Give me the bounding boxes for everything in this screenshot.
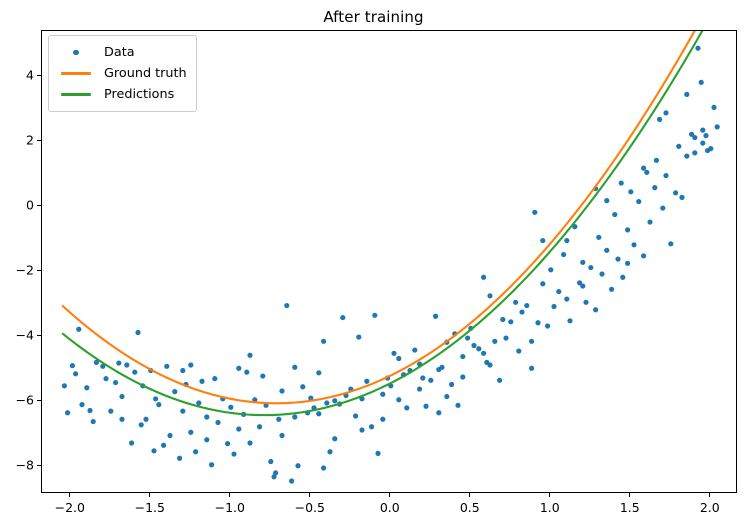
data-point	[257, 424, 262, 429]
data-point	[161, 443, 166, 448]
data-point	[231, 451, 236, 456]
data-point	[532, 210, 537, 215]
data-point	[684, 153, 689, 158]
data-point	[684, 92, 689, 97]
data-point	[332, 436, 337, 441]
data-point	[87, 408, 92, 413]
data-point	[644, 170, 649, 175]
data-point	[79, 402, 84, 407]
x-tick-mark	[309, 493, 310, 497]
data-point	[327, 449, 332, 454]
y-tick-mark	[37, 400, 41, 401]
data-point	[193, 449, 198, 454]
x-tick-label: −1.0	[215, 500, 245, 515]
data-point	[516, 348, 521, 353]
data-point	[604, 198, 609, 203]
data-point	[260, 373, 265, 378]
data-point	[673, 190, 678, 195]
data-point	[636, 199, 641, 204]
data-point	[556, 289, 561, 294]
data-point	[151, 448, 156, 453]
data-point	[428, 378, 433, 383]
x-tick-mark	[549, 493, 550, 497]
data-point	[321, 465, 326, 470]
data-point	[567, 318, 572, 323]
data-point	[508, 319, 513, 324]
data-point	[247, 353, 252, 358]
data-point	[695, 46, 700, 51]
data-point	[359, 427, 364, 432]
data-point	[699, 80, 704, 85]
data-point	[289, 478, 294, 483]
page-title: After training	[0, 8, 747, 26]
x-tick-mark	[149, 493, 150, 497]
data-point	[124, 362, 129, 367]
x-tick-label: 0.5	[460, 500, 480, 515]
data-point	[369, 424, 374, 429]
y-tick-mark	[37, 140, 41, 141]
data-point	[564, 238, 569, 243]
data-point	[108, 409, 113, 414]
data-point	[396, 356, 401, 361]
matplotlib-figure: After training −2.0−1.5−1.0−0.50.00.51.0…	[0, 0, 747, 528]
data-point	[580, 283, 585, 288]
data-point	[455, 403, 460, 408]
data-point	[497, 378, 502, 383]
data-point	[209, 462, 214, 467]
data-point	[620, 275, 625, 280]
data-point	[433, 314, 438, 319]
data-point	[84, 385, 89, 390]
data-point	[654, 158, 659, 163]
data-point	[715, 124, 720, 129]
data-point	[583, 300, 588, 305]
data-point	[188, 362, 193, 367]
data-point	[449, 382, 454, 387]
data-point	[225, 441, 230, 446]
data-point	[500, 317, 505, 322]
data-point	[380, 392, 385, 397]
y-tick-label: −2	[16, 263, 34, 278]
data-point	[113, 380, 118, 385]
data-point	[465, 335, 470, 340]
data-point	[103, 376, 108, 381]
data-point	[529, 366, 534, 371]
data-point	[321, 339, 326, 344]
data-point	[652, 185, 657, 190]
data-point	[70, 363, 75, 368]
x-tick-label: −1.5	[135, 500, 165, 515]
data-point	[628, 189, 633, 194]
data-point	[524, 303, 529, 308]
data-point	[545, 323, 550, 328]
data-point	[593, 307, 598, 312]
data-point	[364, 379, 369, 384]
data-point	[316, 370, 321, 375]
data-point	[199, 379, 204, 384]
data-point	[380, 417, 385, 422]
data-point	[180, 409, 185, 414]
data-point	[700, 128, 705, 133]
data-point	[580, 260, 585, 265]
data-point	[268, 459, 273, 464]
data-point	[292, 365, 297, 370]
data-point	[513, 300, 518, 305]
data-point	[132, 370, 137, 375]
data-point	[129, 440, 134, 445]
data-point	[340, 315, 345, 320]
x-tick-label: −0.5	[295, 500, 325, 515]
data-point	[641, 166, 646, 171]
data-point	[316, 411, 321, 416]
y-tick-mark	[37, 270, 41, 271]
data-point	[711, 105, 716, 110]
data-point	[535, 320, 540, 325]
data-point	[612, 212, 617, 217]
data-point	[679, 195, 684, 200]
data-point	[460, 354, 465, 359]
y-tick-label: 0	[26, 198, 34, 213]
data-point	[700, 140, 705, 145]
data-point	[631, 242, 636, 247]
y-tick-mark	[37, 205, 41, 206]
data-point	[73, 371, 78, 376]
data-point	[135, 330, 140, 335]
legend-marker-line-icon	[56, 93, 96, 95]
y-tick-label: 2	[26, 133, 34, 148]
data-point	[119, 417, 124, 422]
data-point	[492, 339, 497, 344]
data-point	[212, 376, 217, 381]
data-point	[708, 146, 713, 151]
data-point	[188, 430, 193, 435]
data-point	[548, 267, 553, 272]
y-tick-label: 4	[26, 68, 34, 83]
x-tick-label: 0.0	[380, 500, 400, 515]
data-point	[404, 405, 409, 410]
data-point	[143, 417, 148, 422]
data-point	[324, 400, 329, 405]
legend-item-ground-truth: Ground truth	[56, 63, 187, 84]
x-tick-mark	[469, 493, 470, 497]
data-point	[615, 256, 620, 261]
y-tick-mark	[37, 465, 41, 466]
data-point	[76, 327, 81, 332]
data-point	[65, 410, 70, 415]
x-tick-label: −2.0	[55, 500, 85, 515]
data-point	[332, 398, 337, 403]
data-point	[420, 375, 425, 380]
data-point	[172, 389, 177, 394]
data-point	[180, 368, 185, 373]
x-tick-mark	[629, 493, 630, 497]
data-point	[561, 252, 566, 257]
data-point	[295, 463, 300, 468]
data-point	[91, 419, 96, 424]
data-point	[236, 366, 241, 371]
data-point	[356, 334, 361, 339]
legend-item-data: Data	[56, 42, 187, 63]
y-tick-label: −4	[16, 328, 34, 343]
data-point	[273, 470, 278, 475]
data-point	[439, 365, 444, 370]
data-point	[540, 238, 545, 243]
y-tick-label: −6	[16, 393, 34, 408]
legend-label: Data	[96, 45, 135, 60]
data-point	[196, 400, 201, 405]
data-point	[625, 261, 630, 266]
y-tick-mark	[37, 75, 41, 76]
data-point	[177, 456, 182, 461]
x-tick-label: 1.5	[620, 500, 640, 515]
data-point	[153, 396, 158, 401]
data-point	[372, 313, 377, 318]
data-point	[519, 309, 524, 314]
x-tick-mark	[229, 493, 230, 497]
data-point	[353, 413, 358, 418]
data-point	[412, 347, 417, 352]
data-point	[692, 135, 697, 140]
x-tick-mark	[69, 493, 70, 497]
data-point	[119, 394, 124, 399]
x-tick-mark	[709, 493, 710, 497]
legend-item-predictions: Predictions	[56, 84, 187, 105]
x-tick-label: 1.0	[540, 500, 560, 515]
data-point	[625, 227, 630, 232]
data-point	[292, 414, 297, 419]
data-point	[215, 420, 220, 425]
data-point	[647, 219, 652, 224]
data-point	[236, 426, 241, 431]
data-point	[244, 370, 249, 375]
data-point	[460, 374, 465, 379]
data-point	[619, 180, 624, 185]
legend-marker-dot-icon	[56, 50, 96, 55]
legend-label: Ground truth	[96, 66, 187, 81]
data-point	[444, 394, 449, 399]
data-point	[551, 304, 556, 309]
data-point	[564, 296, 569, 301]
data-point	[476, 346, 481, 351]
data-point	[417, 386, 422, 391]
y-tick-mark	[37, 335, 41, 336]
data-point	[588, 265, 593, 270]
data-point	[279, 388, 284, 393]
data-point	[481, 275, 486, 280]
data-point	[276, 417, 281, 422]
x-tick-label: 2.0	[700, 500, 720, 515]
data-point	[503, 335, 508, 340]
data-point	[204, 414, 209, 419]
data-point	[436, 410, 441, 415]
data-point	[164, 364, 169, 369]
data-point	[703, 133, 708, 138]
data-point	[657, 117, 662, 122]
data-point	[62, 383, 67, 388]
legend-label: Predictions	[96, 87, 174, 102]
data-point	[609, 287, 614, 292]
data-point	[228, 405, 233, 410]
data-point	[604, 248, 609, 253]
legend-marker-line-icon	[56, 72, 96, 74]
data-point	[423, 404, 428, 409]
data-point	[116, 360, 121, 365]
data-point	[279, 433, 284, 438]
data-point	[284, 303, 289, 308]
data-point	[481, 351, 486, 356]
x-tick-mark	[389, 493, 390, 497]
data-point	[668, 241, 673, 246]
data-point	[692, 150, 697, 155]
data-point	[660, 205, 665, 210]
data-point	[375, 451, 380, 456]
data-point	[487, 293, 492, 298]
data-point	[247, 440, 252, 445]
data-point	[139, 422, 144, 427]
data-point	[529, 339, 534, 344]
data-point	[391, 351, 396, 356]
data-point	[540, 281, 545, 286]
data-point	[487, 362, 492, 367]
y-tick-label: −8	[16, 458, 34, 473]
data-point	[156, 402, 161, 407]
data-point	[204, 437, 209, 442]
data-point	[167, 433, 172, 438]
data-point	[396, 397, 401, 402]
data-point	[663, 110, 668, 115]
data-point	[596, 235, 601, 240]
data-point	[663, 173, 668, 178]
data-point	[599, 271, 604, 276]
legend: Data Ground truth Predictions	[48, 35, 197, 112]
data-point	[641, 253, 646, 258]
data-point	[300, 384, 305, 389]
data-point	[676, 144, 681, 149]
data-point	[471, 343, 476, 348]
